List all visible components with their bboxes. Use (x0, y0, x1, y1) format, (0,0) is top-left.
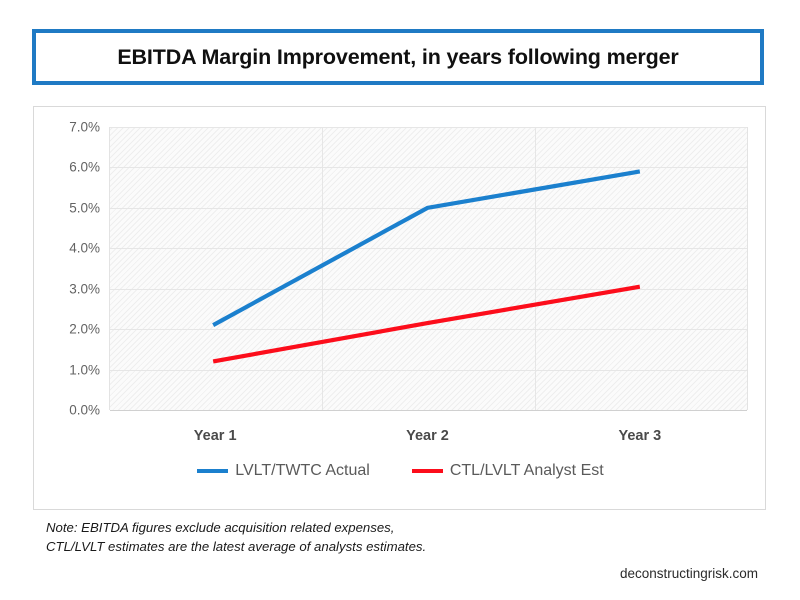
x-axis: Year 1Year 2Year 3 (109, 420, 746, 450)
y-axis-tick-label: 3.0% (38, 281, 100, 296)
y-axis-tick-label: 4.0% (38, 241, 100, 256)
slide-canvas: EBITDA Margin Improvement, in years foll… (0, 0, 800, 600)
legend-item[interactable]: CTL/LVLT Analyst Est (412, 462, 604, 480)
y-axis-tick-label: 6.0% (38, 160, 100, 175)
chart-container: 0.0%1.0%2.0%3.0%4.0%5.0%6.0%7.0% Year 1Y… (33, 106, 766, 510)
series-line (213, 171, 640, 325)
legend-label: CTL/LVLT Analyst Est (450, 462, 604, 480)
footnote: Note: EBITDA figures exclude acquisition… (46, 518, 646, 556)
chart-title-box: EBITDA Margin Improvement, in years foll… (32, 29, 764, 85)
x-axis-tick-label: Year 3 (618, 428, 661, 444)
y-axis-tick-label: 5.0% (38, 200, 100, 215)
series-overlay (109, 127, 746, 410)
y-axis-tick-label: 2.0% (38, 322, 100, 337)
footnote-line-1: Note: EBITDA figures exclude acquisition… (46, 518, 646, 537)
page-title: EBITDA Margin Improvement, in years foll… (117, 45, 678, 70)
legend-label: LVLT/TWTC Actual (235, 462, 370, 480)
attribution-label: deconstructingrisk.com (620, 566, 758, 581)
series-line (213, 287, 640, 362)
x-axis-tick-label: Year 1 (194, 428, 237, 444)
legend-item[interactable]: LVLT/TWTC Actual (197, 462, 370, 480)
y-axis: 0.0%1.0%2.0%3.0%4.0%5.0%6.0%7.0% (34, 127, 100, 410)
footnote-line-2: CTL/LVLT estimates are the latest averag… (46, 537, 646, 556)
x-axis-tick-label: Year 2 (406, 428, 449, 444)
gridline-horizontal (110, 410, 747, 411)
y-axis-tick-label: 1.0% (38, 362, 100, 377)
legend-line-icon (412, 469, 443, 473)
legend-line-icon (197, 469, 228, 473)
y-axis-tick-label: 7.0% (38, 120, 100, 135)
chart-legend: LVLT/TWTC ActualCTL/LVLT Analyst Est (34, 462, 767, 480)
y-axis-tick-label: 0.0% (38, 403, 100, 418)
